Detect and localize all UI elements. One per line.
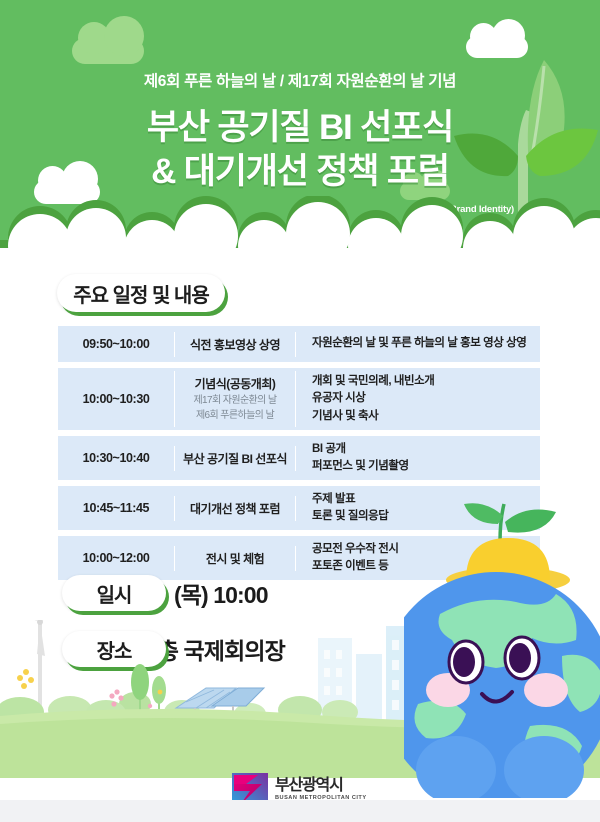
row-program-title: 부산 공기질 BI 선포식	[183, 452, 287, 466]
event-kicker: 제6회 푸른 하늘의 날 / 제17회 자원순환의 날 기념	[0, 74, 600, 90]
table-row: 10:00~10:30 기념식(공동개최) 제17회 자원순환의 날 제6회 푸…	[58, 368, 540, 430]
mascot-leaf-right	[505, 510, 556, 533]
row-program: 전시 및 체험	[174, 546, 296, 571]
header-text-block: 제6회 푸른 하늘의 날 / 제17회 자원순환의 날 기념 부산 공기질 BI…	[0, 0, 600, 215]
event-date-row: 일시 ‘25. 9. 4. (목) 10:00	[62, 576, 268, 610]
row-program-sub: 제17회 자원순환의 날	[175, 394, 295, 408]
mascot-leaf-left	[464, 503, 503, 524]
date-label: 일시	[97, 579, 132, 608]
page-title-line-1: 부산 공기질 BI 선포식	[0, 106, 600, 151]
mascot-cheek-right	[524, 673, 568, 707]
row-program: 부산 공기질 BI 선포식	[174, 446, 296, 471]
row-detail-line: 기념사 및 축사	[312, 408, 540, 425]
row-program: 대기개선 정책 포럼	[174, 496, 296, 521]
row-program: 식전 홍보영상 상영	[174, 332, 296, 357]
row-detail-line: BI 공개	[312, 441, 540, 458]
row-program-title: 전시 및 체험	[206, 552, 264, 566]
row-program-title: 대기개선 정책 포럼	[190, 502, 280, 516]
row-detail-line: 자원순환의 날 및 푸른 하늘의 날 홍보 영상 상영	[312, 335, 540, 352]
row-time: 09:50~10:00	[58, 337, 174, 351]
row-detail-line: 퍼포먼스 및 기념촬영	[312, 458, 540, 475]
poster-header: 제6회 푸른 하늘의 날 / 제17회 자원순환의 날 기념 부산 공기질 BI…	[0, 0, 600, 262]
section-badge-label: 주요 일정 및 내용	[73, 279, 208, 308]
row-program-sub: 제6회 푸른하늘의 날	[175, 409, 295, 423]
table-row: 10:30~10:40 부산 공기질 BI 선포식 BI 공개 퍼포먼스 및 기…	[58, 436, 540, 480]
row-time: 10:45~11:45	[58, 501, 174, 515]
bottom-strip	[0, 800, 600, 822]
mascot-sprout-stem	[500, 504, 504, 542]
row-program-title: 기념식(공동개최)	[195, 377, 276, 391]
date-label-badge: 일시	[62, 575, 166, 611]
busan-logo-text: 부산광역시 BUSAN METROPOLITAN CITY	[275, 778, 367, 802]
row-detail: 개회 및 국민의례, 내빈소개 유공자 시상 기념사 및 축사	[296, 373, 540, 424]
section-badge-schedule: 주요 일정 및 내용	[57, 274, 225, 312]
row-time: 10:30~10:40	[58, 451, 174, 465]
row-detail: BI 공개 퍼포먼스 및 기념촬영	[296, 441, 540, 475]
row-program: 기념식(공동개최) 제17회 자원순환의 날 제6회 푸른하늘의 날	[174, 371, 296, 426]
row-detail-line: 유공자 시상	[312, 390, 540, 407]
earth-mascot	[404, 498, 600, 798]
page-title-line-2: & 대기개선 정책 포럼	[0, 150, 600, 195]
row-time: 10:00~12:00	[58, 551, 174, 565]
cloud-divider	[0, 196, 600, 262]
event-poster: 제6회 푸른 하늘의 날 / 제17회 자원순환의 날 기념 부산 공기질 BI…	[0, 0, 600, 822]
row-program-title: 식전 홍보영상 상영	[190, 338, 280, 352]
row-detail-line: 개회 및 국민의례, 내빈소개	[312, 373, 540, 390]
table-row: 09:50~10:00 식전 홍보영상 상영 자원순환의 날 및 푸른 하늘의 …	[58, 326, 540, 362]
busan-logo-kr: 부산광역시	[275, 778, 367, 794]
page-title: 부산 공기질 BI 선포식 & 대기개선 정책 포럼	[0, 106, 600, 196]
row-detail: 자원순환의 날 및 푸른 하늘의 날 홍보 영상 상영	[296, 335, 540, 352]
row-time: 10:00~10:30	[58, 392, 174, 406]
